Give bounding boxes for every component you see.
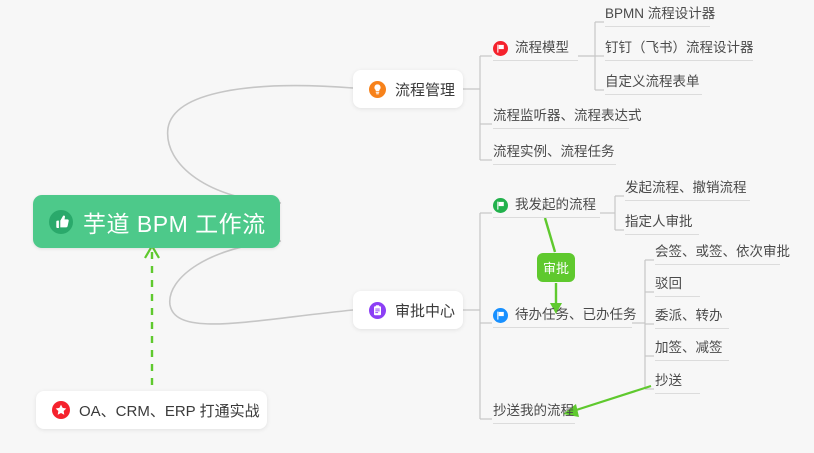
node-start-revoke-process[interactable]: 发起流程、撤销流程 bbox=[625, 180, 750, 201]
lightbulb-icon bbox=[369, 81, 386, 98]
node-process-model[interactable]: 流程模型 bbox=[493, 40, 578, 61]
node-reject[interactable]: 驳回 bbox=[655, 276, 700, 297]
label-delegate-transfer: 委派、转办 bbox=[655, 308, 723, 323]
label-process-instance: 流程实例、流程任务 bbox=[493, 144, 615, 159]
label-process-model: 流程模型 bbox=[515, 40, 569, 56]
annotation-badge-label: 审批 bbox=[543, 258, 569, 277]
mindmap-canvas: 芋道 BPM 工作流 流程管理 审批中心 bbox=[0, 0, 814, 453]
arrow-cc-to-ccme bbox=[570, 386, 651, 412]
star-icon bbox=[52, 401, 70, 419]
node-custom-form[interactable]: 自定义流程表单 bbox=[605, 74, 702, 95]
label-designer-bpmn: BPMN 流程设计器 bbox=[605, 6, 715, 21]
edge-root-to-process-mgmt bbox=[168, 86, 353, 203]
branch-node-process-mgmt[interactable]: 流程管理 bbox=[353, 70, 463, 108]
node-process-instance[interactable]: 流程实例、流程任务 bbox=[493, 144, 616, 165]
floating-label-integration: OA、CRM、ERP 打通实战 bbox=[79, 400, 260, 421]
node-add-remove-sign[interactable]: 加签、减签 bbox=[655, 340, 729, 361]
label-reject: 驳回 bbox=[655, 276, 682, 291]
arrow-my-started-to-badge bbox=[545, 218, 555, 252]
branch-label-approval-center: 审批中心 bbox=[395, 300, 455, 321]
edge-root-to-approval-center bbox=[170, 241, 353, 324]
node-assign-approver[interactable]: 指定人审批 bbox=[625, 214, 699, 235]
floating-node-integration[interactable]: OA、CRM、ERP 打通实战 bbox=[36, 391, 267, 429]
node-countersign-modes[interactable]: 会签、或签、依次审批 bbox=[655, 244, 780, 265]
branch-label-process-mgmt: 流程管理 bbox=[395, 79, 455, 100]
annotation-badge-approval[interactable]: 审批 bbox=[537, 253, 575, 282]
label-add-remove-sign: 加签、减签 bbox=[655, 340, 723, 355]
label-process-listener: 流程监听器、流程表达式 bbox=[493, 108, 642, 123]
label-custom-form: 自定义流程表单 bbox=[605, 74, 700, 89]
root-label: 芋道 BPM 工作流 bbox=[83, 205, 266, 239]
clipboard-icon bbox=[369, 302, 386, 319]
node-designer-dingtalk[interactable]: 钉钉（飞书）流程设计器 bbox=[605, 40, 753, 61]
label-assign-approver: 指定人审批 bbox=[625, 214, 693, 229]
node-delegate-transfer[interactable]: 委派、转办 bbox=[655, 308, 729, 329]
flag-icon bbox=[493, 198, 508, 213]
root-node[interactable]: 芋道 BPM 工作流 bbox=[33, 195, 280, 248]
node-cc-to-me[interactable]: 抄送我的流程 bbox=[493, 403, 575, 424]
label-my-started: 我发起的流程 bbox=[515, 197, 596, 213]
label-cc-to-me: 抄送我的流程 bbox=[493, 403, 574, 418]
label-countersign-modes: 会签、或签、依次审批 bbox=[655, 244, 790, 259]
label-designer-dingtalk: 钉钉（飞书）流程设计器 bbox=[605, 40, 754, 55]
thumbs-up-icon bbox=[49, 210, 73, 234]
label-start-revoke-process: 发起流程、撤销流程 bbox=[625, 180, 747, 195]
label-todo-done-tasks: 待办任务、已办任务 bbox=[515, 307, 637, 323]
flag-icon bbox=[493, 41, 508, 56]
node-cc[interactable]: 抄送 bbox=[655, 373, 700, 394]
label-cc: 抄送 bbox=[655, 373, 682, 388]
branch-node-approval-center[interactable]: 审批中心 bbox=[353, 291, 463, 329]
node-todo-done-tasks[interactable]: 待办任务、已办任务 bbox=[493, 307, 632, 328]
node-designer-bpmn[interactable]: BPMN 流程设计器 bbox=[605, 6, 710, 27]
node-process-listener[interactable]: 流程监听器、流程表达式 bbox=[493, 108, 629, 129]
node-my-started[interactable]: 我发起的流程 bbox=[493, 197, 600, 218]
flag-icon bbox=[493, 308, 508, 323]
